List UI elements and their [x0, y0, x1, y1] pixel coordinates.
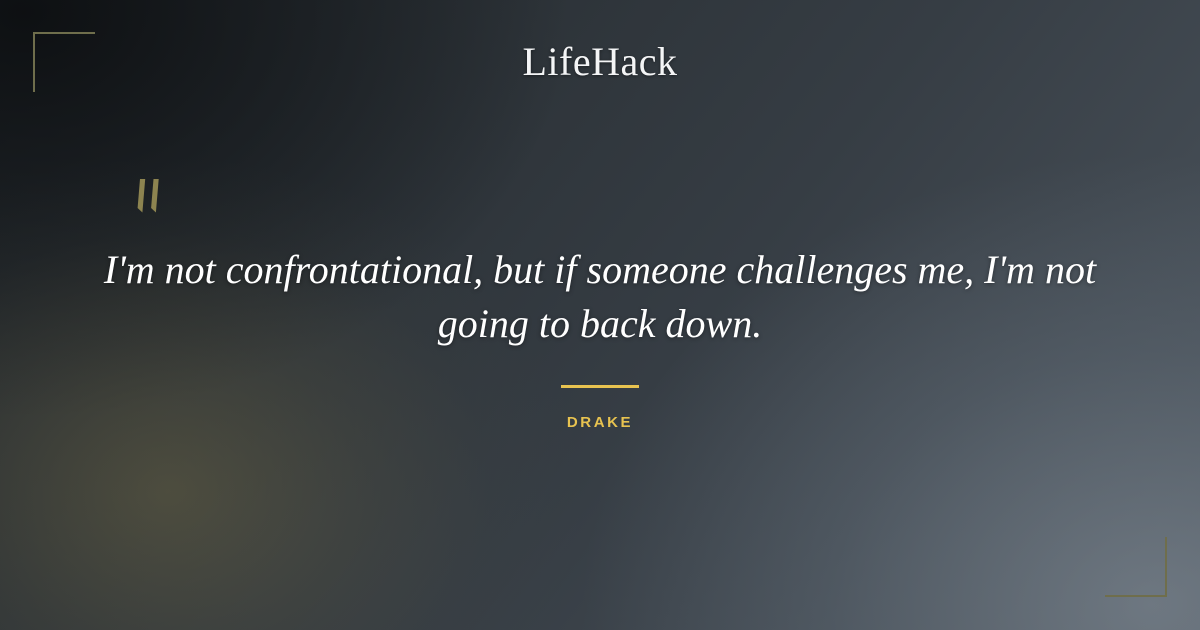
- quote-card: LifeHack I'm not confrontational, but if…: [0, 0, 1200, 630]
- corner-bracket-bottom-right-icon: [1105, 537, 1167, 597]
- quote-line-1: I'm not confrontational, but if someone …: [104, 247, 1035, 292]
- brand-logo: LifeHack: [0, 38, 1200, 85]
- quote-mark-icon: [134, 176, 174, 218]
- gold-divider: [561, 385, 639, 388]
- author-name: DRAKE: [0, 414, 1200, 431]
- quote-text: I'm not confrontational, but if someone …: [100, 243, 1100, 351]
